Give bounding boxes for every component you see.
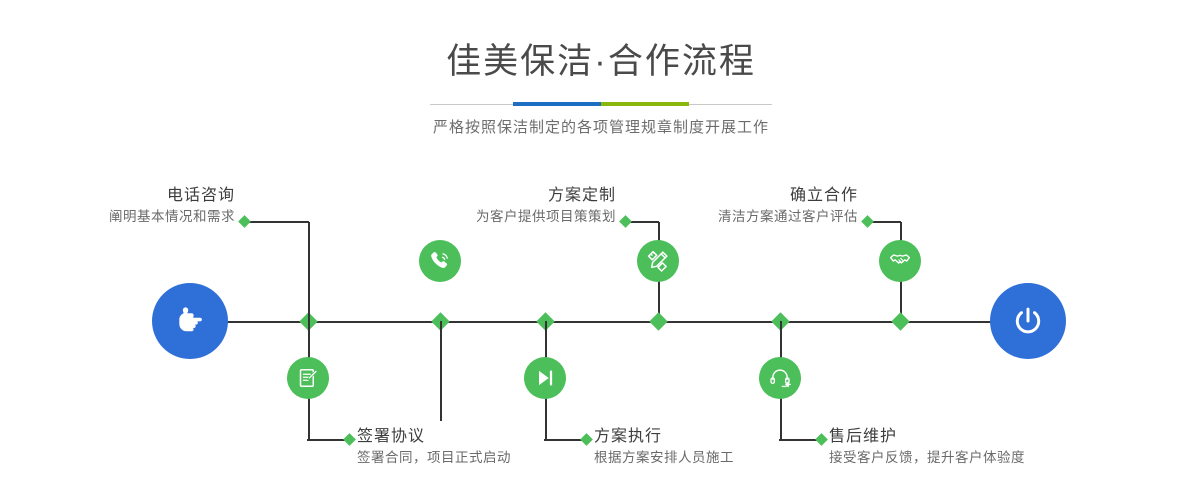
step-1-label: 电话咨询 阐明基本情况和需求 <box>0 185 235 227</box>
play-forward-icon <box>533 366 557 390</box>
step-1-connector-vertical <box>308 222 310 322</box>
step-1-icon-node[interactable] <box>419 240 461 282</box>
step-5-label-tick <box>861 215 874 228</box>
step-2-icon-node[interactable] <box>287 357 329 399</box>
step-3-desc: 为客户提供项目策策划 <box>330 207 616 227</box>
step-1-title: 电话咨询 <box>0 185 235 207</box>
document-pen-icon <box>296 366 320 390</box>
step-5-label: 确立合作 清洁方案通过客户评估 <box>575 185 858 227</box>
phone-call-icon <box>428 249 452 273</box>
step-5-desc: 清洁方案通过客户评估 <box>575 207 858 227</box>
step-5-title: 确立合作 <box>575 185 858 207</box>
timeline-start-node[interactable] <box>152 283 228 359</box>
step-1-label-tick <box>238 215 251 228</box>
timeline-end-node[interactable] <box>990 283 1066 359</box>
step-6-icon-node[interactable] <box>759 357 801 399</box>
hand-point-right-icon <box>171 302 209 340</box>
step-3-title: 方案定制 <box>330 185 616 207</box>
flow-diagram: 佳美保洁·合作流程 严格按照保洁制定的各项管理规章制度开展工作 <box>0 0 1202 502</box>
step-2-label-tick <box>343 433 356 446</box>
pencil-ruler-icon <box>646 249 670 273</box>
step-6-title: 售后维护 <box>829 426 1169 448</box>
step-1-connector-horizontal <box>245 221 309 223</box>
headset-add-icon <box>768 366 792 390</box>
step-2-connector-vertical <box>440 321 442 421</box>
power-icon <box>1009 302 1047 340</box>
handshake-icon <box>888 249 912 273</box>
step-6-desc: 接受客户反馈，提升客户体验度 <box>829 448 1169 468</box>
step-5-axis-diamond-b <box>891 312 909 330</box>
step-6-label: 售后维护 接受客户反馈，提升客户体验度 <box>829 426 1169 468</box>
timeline-axis <box>153 321 1049 323</box>
step-4-icon-node[interactable] <box>524 357 566 399</box>
step-3-label: 方案定制 为客户提供项目策策划 <box>330 185 616 227</box>
step-5-icon-node[interactable] <box>879 240 921 282</box>
step-1-desc: 阐明基本情况和需求 <box>0 207 235 227</box>
step-3-icon-node[interactable] <box>637 240 679 282</box>
timeline: 电话咨询 阐明基本情况和需求 签署协议 <box>0 0 1202 502</box>
step-3-axis-diamond-b <box>649 312 667 330</box>
